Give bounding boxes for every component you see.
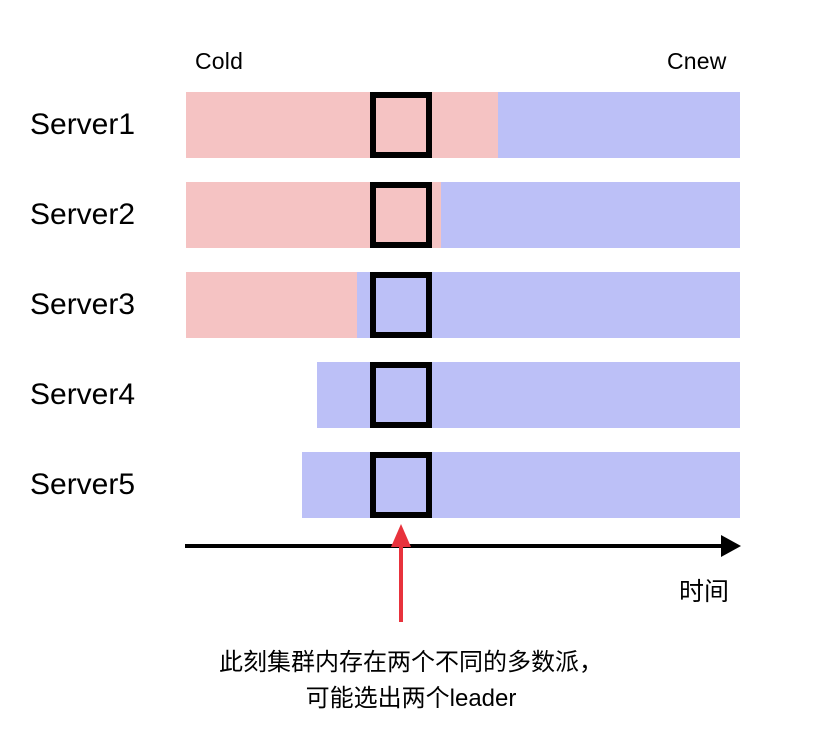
axis-label-time: 时间 [679, 578, 729, 606]
server-row: Server5 [0, 452, 822, 518]
server-row: Server4 [0, 362, 822, 428]
caption-line-1: 此刻集群内存在两个不同的多数派， [0, 645, 822, 681]
highlight-box-server2 [370, 182, 432, 248]
server-row: Server1 [0, 92, 822, 158]
server-label-2: Server2 [30, 198, 180, 232]
highlight-box-server4 [370, 362, 432, 428]
server-label-3: Server3 [30, 288, 180, 322]
row-label-slot: Server5 [30, 452, 180, 518]
row-label-slot: Server2 [30, 182, 180, 248]
time-axis [180, 528, 755, 568]
segment-cold [186, 272, 357, 338]
server-row: Server3 [0, 272, 822, 338]
timeline-bar-1 [186, 92, 740, 158]
segment-cnew [441, 182, 740, 248]
row-label-slot: Server1 [30, 92, 180, 158]
timeline-bar-2 [186, 182, 740, 248]
row-label-slot: Server3 [30, 272, 180, 338]
phase-label-cnew: Cnew [667, 48, 727, 74]
right-arrow-icon [721, 535, 741, 557]
server-label-1: Server1 [30, 108, 180, 142]
row-label-slot: Server4 [30, 362, 180, 428]
axis-line [185, 544, 723, 548]
caption-line-2: 可能选出两个leader [0, 681, 822, 717]
segment-cold [186, 92, 498, 158]
highlight-box-server3 [370, 272, 432, 338]
server-label-5: Server5 [30, 468, 180, 502]
timeline-bar-5 [302, 452, 740, 518]
caption: 此刻集群内存在两个不同的多数派， 可能选出两个leader [0, 645, 822, 717]
segment-cnew [498, 92, 740, 158]
segment-cnew [302, 452, 740, 518]
highlight-box-server5 [370, 452, 432, 518]
highlight-box-server1 [370, 92, 432, 158]
server-label-4: Server4 [30, 378, 180, 412]
red-pointer-annotation [386, 524, 416, 622]
phase-label-cold: Cold [195, 48, 243, 74]
diagram-canvas: Cold Cnew Server1 Server2 Server3 [0, 0, 822, 736]
server-row: Server2 [0, 182, 822, 248]
pointer-shaft [399, 544, 403, 622]
timeline-bar-3 [186, 272, 740, 338]
